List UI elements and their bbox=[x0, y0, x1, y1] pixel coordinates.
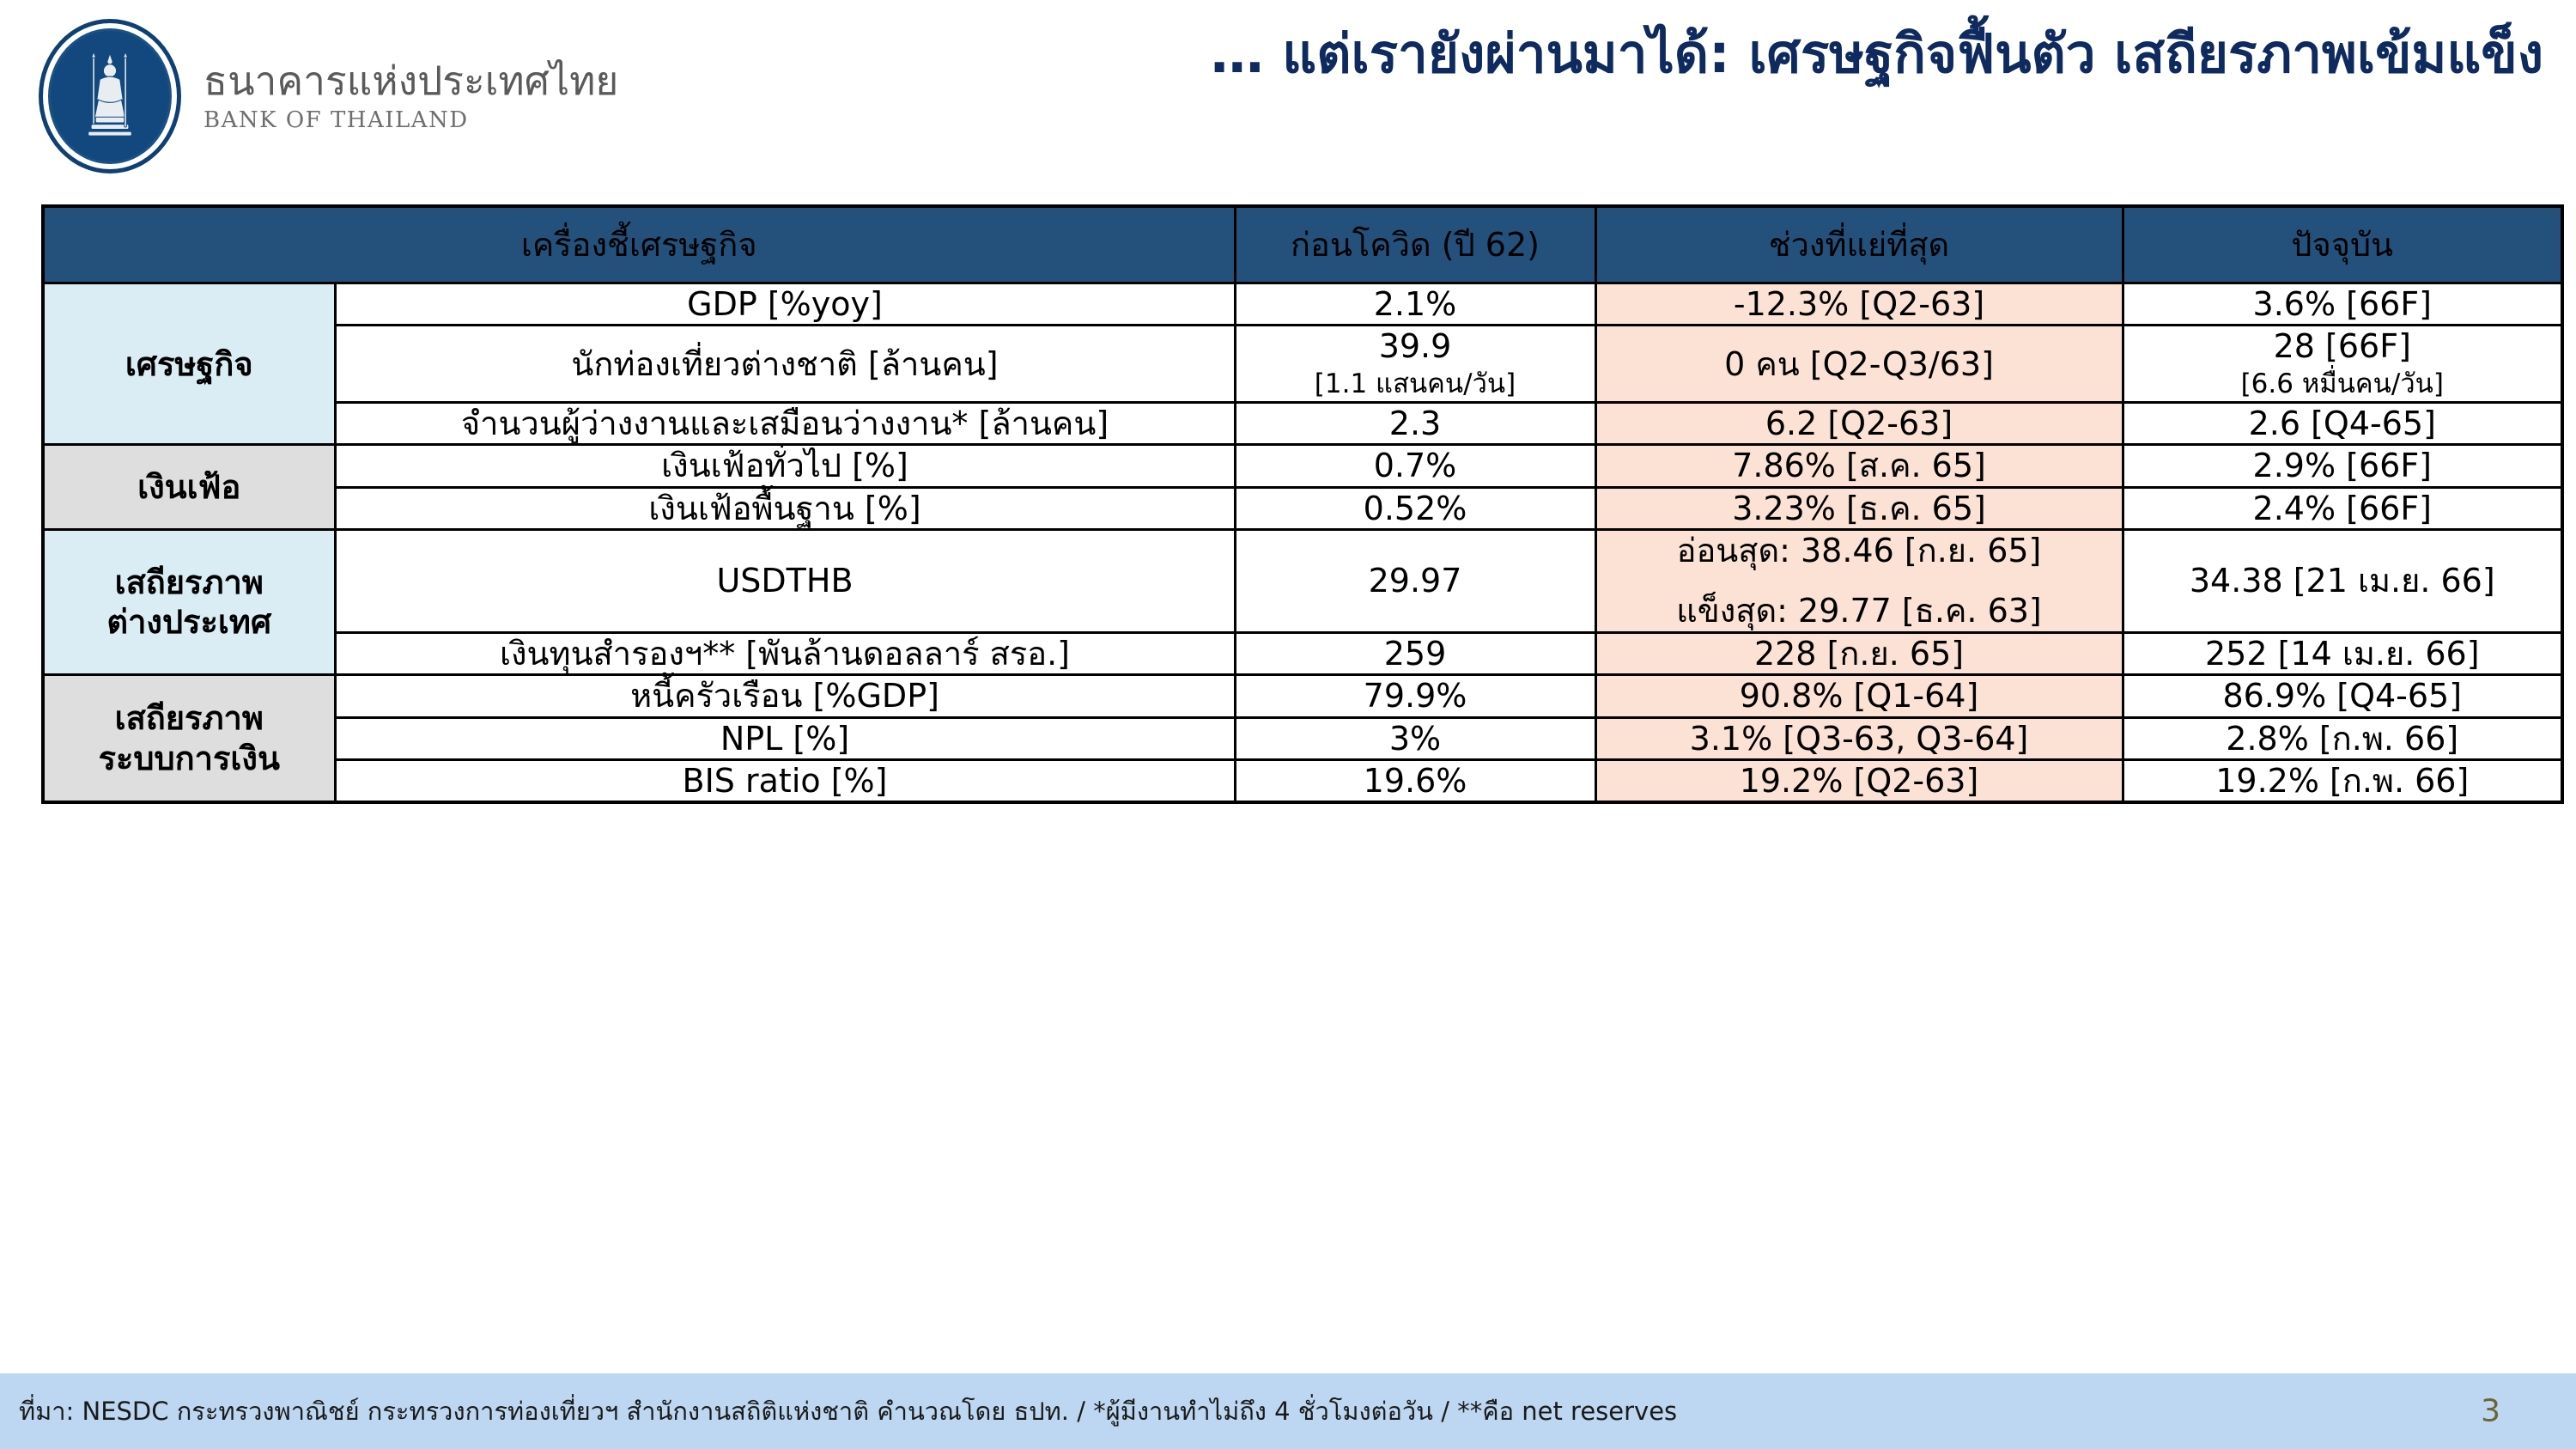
table-row: NPL [%] 3% 3.1% [Q3-63, Q3-64] 2.8% [ก.พ… bbox=[43, 717, 2562, 759]
wordmark-english: BANK OF THAILAND bbox=[204, 109, 618, 131]
table-row: เสถียรภาพ ระบบการเงิน หนี้ครัวเรือน [%GD… bbox=[43, 675, 2562, 717]
wordmark-thai: ธนาคารแห่งประเทศไทย bbox=[204, 61, 618, 100]
value-current: 2.6 [Q4-65] bbox=[2123, 403, 2562, 445]
column-header-current: ปัจจุบัน bbox=[2123, 206, 2562, 283]
column-header-worst: ช่วงที่แย่ที่สุด bbox=[1595, 206, 2123, 283]
indicator-foreign-tourists: นักท่องเที่ยวต่างชาติ [ล้านคน] bbox=[335, 326, 1235, 403]
value-precovid: 19.6% bbox=[1235, 759, 1595, 802]
value-worst: 228 [ก.ย. 65] bbox=[1595, 632, 2123, 674]
economic-indicators-table-wrap: เครื่องชี้เศรษฐกิจ ก่อนโควิด (ปี 62) ช่ว… bbox=[41, 204, 2561, 804]
value-precovid: 29.97 bbox=[1235, 530, 1595, 633]
value-worst: 19.2% [Q2-63] bbox=[1595, 759, 2123, 802]
indicator-core-inflation: เงินเฟ้อพื้นฐาน [%] bbox=[335, 487, 1235, 529]
page-number: 3 bbox=[2481, 1394, 2500, 1429]
value-precovid: 39.9 [1.1 แสนคน/วัน] bbox=[1235, 326, 1595, 403]
bank-of-thailand-seal-icon bbox=[39, 19, 181, 174]
page-title: … แต่เรายังผ่านมาได้: เศรษฐกิจฟื้นตัว เส… bbox=[697, 24, 2543, 83]
indicator-reserves: เงินทุนสำรองฯ** [พันล้านดอลลาร์ สรอ.] bbox=[335, 632, 1235, 674]
slide-footer: ที่มา: NESDC กระทรวงพาณิชย์ กระทรวงการท่… bbox=[0, 1373, 2576, 1449]
value-precovid: 2.3 bbox=[1235, 403, 1595, 445]
table-header-row: เครื่องชี้เศรษฐกิจ ก่อนโควิด (ปี 62) ช่ว… bbox=[43, 206, 2562, 283]
value-worst: 3.23% [ธ.ค. 65] bbox=[1595, 487, 2123, 529]
value-worst-strongest: แข็งสุด: 29.77 [ธ.ค. 63] bbox=[1611, 591, 2108, 630]
value-worst: 3.1% [Q3-63, Q3-64] bbox=[1595, 717, 2123, 759]
category-financial-stability-line1: เสถียรภาพ bbox=[115, 699, 264, 737]
value-current: 28 [66F] [6.6 หมื่นคน/วัน] bbox=[2123, 326, 2562, 403]
wordmark: ธนาคารแห่งประเทศไทย BANK OF THAILAND bbox=[204, 61, 618, 131]
category-external-stability: เสถียรภาพ ต่างประเทศ bbox=[43, 530, 335, 675]
table-row: BIS ratio [%] 19.6% 19.2% [Q2-63] 19.2% … bbox=[43, 759, 2562, 802]
table-row: เงินทุนสำรองฯ** [พันล้านดอลลาร์ สรอ.] 25… bbox=[43, 632, 2562, 674]
value-current: 2.9% [66F] bbox=[2123, 445, 2562, 487]
indicator-unemployment: จำนวนผู้ว่างงานและเสมือนว่างงาน* [ล้านคน… bbox=[335, 403, 1235, 445]
value-worst: 90.8% [Q1-64] bbox=[1595, 675, 2123, 717]
table-row: จำนวนผู้ว่างงานและเสมือนว่างงาน* [ล้านคน… bbox=[43, 403, 2562, 445]
economic-indicators-table: เครื่องชี้เศรษฐกิจ ก่อนโควิด (ปี 62) ช่ว… bbox=[41, 204, 2564, 804]
value-current: 252 [14 เม.ย. 66] bbox=[2123, 632, 2562, 674]
value-current: 19.2% [ก.พ. 66] bbox=[2123, 759, 2562, 802]
indicator-headline-inflation: เงินเฟ้อทั่วไป [%] bbox=[335, 445, 1235, 487]
table-row: เสถียรภาพ ต่างประเทศ USDTHB 29.97 อ่อนสุ… bbox=[43, 530, 2562, 633]
value-worst: อ่อนสุด: 38.46 [ก.ย. 65] แข็งสุด: 29.77 … bbox=[1595, 530, 2123, 633]
value-precovid: 0.7% bbox=[1235, 445, 1595, 487]
category-external-stability-line1: เสถียรภาพ bbox=[115, 563, 264, 601]
slide-header: ธนาคารแห่งประเทศไทย BANK OF THAILAND … แ… bbox=[0, 0, 2576, 185]
category-economy: เศรษฐกิจ bbox=[43, 283, 335, 445]
value-worst: -12.3% [Q2-63] bbox=[1595, 283, 2123, 326]
indicator-usdthb: USDTHB bbox=[335, 530, 1235, 633]
value-precovid-sub: [1.1 แสนคน/วัน] bbox=[1250, 367, 1581, 401]
indicator-gdp: GDP [%yoy] bbox=[335, 283, 1235, 326]
column-header-indicator: เครื่องชี้เศรษฐกิจ bbox=[43, 206, 1235, 283]
column-header-pre-covid: ก่อนโควิด (ปี 62) bbox=[1235, 206, 1595, 283]
indicator-bis-ratio: BIS ratio [%] bbox=[335, 759, 1235, 802]
value-precovid-main: 39.9 bbox=[1379, 327, 1452, 365]
value-precovid: 259 bbox=[1235, 632, 1595, 674]
footnote-source: ที่มา: NESDC กระทรวงพาณิชย์ กระทรวงการท่… bbox=[0, 1391, 1677, 1431]
category-inflation: เงินเฟ้อ bbox=[43, 445, 335, 530]
indicator-household-debt: หนี้ครัวเรือน [%GDP] bbox=[335, 675, 1235, 717]
category-financial-stability-line2: ระบบการเงิน bbox=[99, 740, 280, 777]
value-precovid: 0.52% bbox=[1235, 487, 1595, 529]
value-current-main: 28 [66F] bbox=[2274, 327, 2411, 365]
logo-block: ธนาคารแห่งประเทศไทย BANK OF THAILAND bbox=[39, 19, 618, 174]
value-precovid: 2.1% bbox=[1235, 283, 1595, 326]
value-worst-weakest: อ่อนสุด: 38.46 [ก.ย. 65] bbox=[1611, 531, 2108, 570]
value-worst: 0 คน [Q2-Q3/63] bbox=[1595, 326, 2123, 403]
value-current: 2.4% [66F] bbox=[2123, 487, 2562, 529]
value-current: 2.8% [ก.พ. 66] bbox=[2123, 717, 2562, 759]
table-row: เงินเฟ้อ เงินเฟ้อทั่วไป [%] 0.7% 7.86% [… bbox=[43, 445, 2562, 487]
value-worst: 6.2 [Q2-63] bbox=[1595, 403, 2123, 445]
value-current: 3.6% [66F] bbox=[2123, 283, 2562, 326]
value-worst: 7.86% [ส.ค. 65] bbox=[1595, 445, 2123, 487]
value-current: 86.9% [Q4-65] bbox=[2123, 675, 2562, 717]
table-row: เงินเฟ้อพื้นฐาน [%] 0.52% 3.23% [ธ.ค. 65… bbox=[43, 487, 2562, 529]
table-row: เศรษฐกิจ GDP [%yoy] 2.1% -12.3% [Q2-63] … bbox=[43, 283, 2562, 326]
value-precovid: 3% bbox=[1235, 717, 1595, 759]
value-current: 34.38 [21 เม.ย. 66] bbox=[2123, 530, 2562, 633]
value-current-sub: [6.6 หมื่นคน/วัน] bbox=[2138, 367, 2548, 401]
value-precovid: 79.9% bbox=[1235, 675, 1595, 717]
table-row: นักท่องเที่ยวต่างชาติ [ล้านคน] 39.9 [1.1… bbox=[43, 326, 2562, 403]
category-financial-stability: เสถียรภาพ ระบบการเงิน bbox=[43, 675, 335, 803]
category-external-stability-line2: ต่างประเทศ bbox=[106, 603, 271, 641]
indicator-npl: NPL [%] bbox=[335, 717, 1235, 759]
